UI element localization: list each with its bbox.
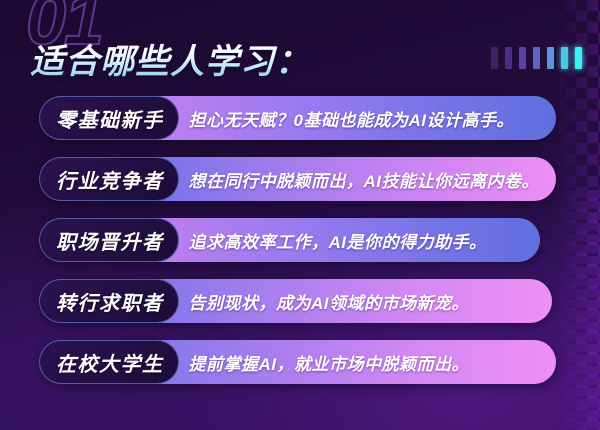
poster-header: 01 适合哪些人学习： <box>0 0 600 92</box>
audience-row[interactable]: 零基础新手担心无天赋？0基础也能成为AI设计高手。 <box>40 96 556 140</box>
audience-label-pill[interactable]: 在校大学生 <box>39 340 179 384</box>
decorative-bar <box>519 47 526 69</box>
decorative-bar <box>505 47 512 69</box>
audience-label-text: 职场晋升者 <box>56 226 164 255</box>
decorative-bar <box>547 47 554 69</box>
decorative-bar <box>533 47 540 69</box>
poster-canvas: 01 适合哪些人学习： 零基础新手担心无天赋？0基础也能成为AI设计高手。行业竞… <box>0 0 600 430</box>
audience-label-text: 转行求职者 <box>56 287 164 316</box>
audience-row-inner: 零基础新手担心无天赋？0基础也能成为AI设计高手。 <box>40 96 556 140</box>
audience-list: 零基础新手担心无天赋？0基础也能成为AI设计高手。行业竞争者想在同行中脱颖而出，… <box>0 96 600 401</box>
audience-row[interactable]: 转行求职者告别现状，成为AI领域的市场新宠。 <box>40 279 552 323</box>
audience-label-text: 零基础新手 <box>56 104 164 133</box>
audience-label-pill[interactable]: 行业竞争者 <box>39 157 179 201</box>
decorative-bar <box>575 47 582 69</box>
audience-description-text: 告别现状，成为AI领域的市场新宠。 <box>179 289 553 314</box>
audience-label-pill[interactable]: 转行求职者 <box>39 279 179 323</box>
audience-description-text: 追求高效率工作，AI是你的得力助手。 <box>179 228 541 253</box>
audience-label-pill[interactable]: 职场晋升者 <box>39 218 179 262</box>
audience-description-text: 提前掌握AI，就业市场中脱颖而出。 <box>179 350 557 375</box>
audience-row-inner: 在校大学生提前掌握AI，就业市场中脱颖而出。 <box>40 340 556 384</box>
audience-row[interactable]: 行业竞争者想在同行中脱颖而出，AI技能让你远离内卷。 <box>40 157 556 201</box>
audience-row[interactable]: 在校大学生提前掌握AI，就业市场中脱颖而出。 <box>40 340 556 384</box>
audience-description-text: 担心无天赋？0基础也能成为AI设计高手。 <box>179 106 557 131</box>
audience-label-pill[interactable]: 零基础新手 <box>39 96 179 140</box>
audience-row-inner: 职场晋升者追求高效率工作，AI是你的得力助手。 <box>40 218 540 262</box>
decorative-bars <box>491 47 582 69</box>
decorative-bar <box>561 47 568 69</box>
audience-row[interactable]: 职场晋升者追求高效率工作，AI是你的得力助手。 <box>40 218 540 262</box>
audience-row-inner: 转行求职者告别现状，成为AI领域的市场新宠。 <box>40 279 552 323</box>
audience-label-text: 在校大学生 <box>56 348 164 377</box>
audience-label-text: 行业竞争者 <box>56 165 164 194</box>
page-title: 适合哪些人学习： <box>30 34 310 83</box>
audience-description-text: 想在同行中脱颖而出，AI技能让你远离内卷。 <box>179 167 557 192</box>
audience-row-inner: 行业竞争者想在同行中脱颖而出，AI技能让你远离内卷。 <box>40 157 556 201</box>
decorative-bar <box>491 47 498 69</box>
